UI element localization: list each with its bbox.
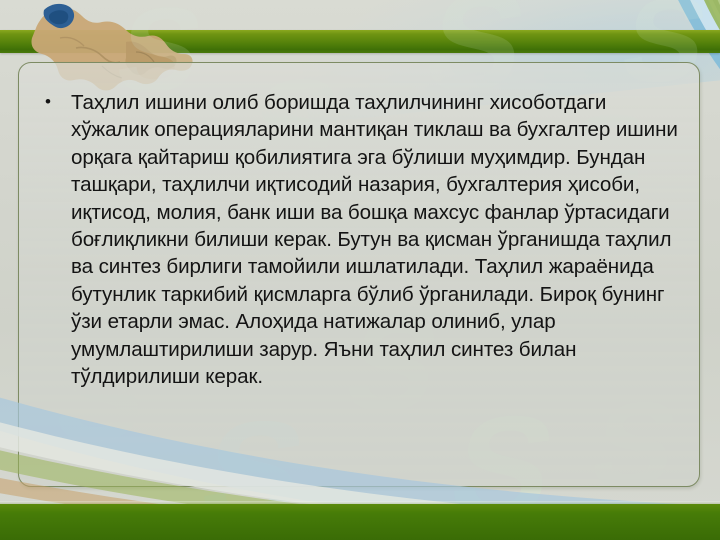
list-item: Таҳлил ишини олиб боришда таҳлилчининг х… [43,89,679,390]
bottom-green-banner [0,504,720,540]
content-placeholder-box: Таҳлил ишини олиб боришда таҳлилчининг х… [18,62,700,487]
body-bullet-list: Таҳлил ишини олиб боришда таҳлилчининг х… [19,63,699,390]
presentation-slide: S S S S S S S S S S Таҳлил ишини олиб бо… [0,0,720,540]
top-green-banner [0,30,720,53]
